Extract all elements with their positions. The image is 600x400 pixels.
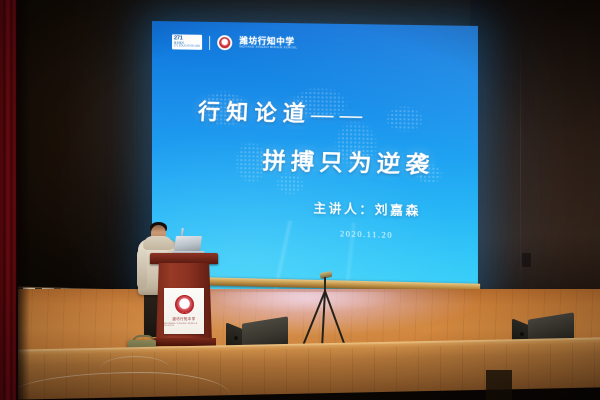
school-crest-icon xyxy=(217,35,232,50)
podium-crest-icon xyxy=(175,295,194,314)
tripod-head xyxy=(320,271,333,279)
podium-top xyxy=(150,253,218,264)
podium-sign-en: WEIFANG XINGZHI MIDDLE SCHOOL xyxy=(164,323,204,327)
slide-title-line-1: 行知论道—— xyxy=(197,94,369,130)
wall-vent xyxy=(522,253,531,267)
slide-date: 2020.11.20 xyxy=(340,228,393,240)
monitor-connector-icon xyxy=(234,336,238,340)
laptop-screen xyxy=(174,236,202,252)
header-divider xyxy=(209,35,210,49)
camera-tripod xyxy=(302,272,348,350)
logo-271-subtitle-en: 271 EDUCATION GROUP xyxy=(174,45,200,48)
monitor-connector-icon xyxy=(520,332,524,336)
apron-recess xyxy=(486,370,512,400)
curtain-shadow xyxy=(16,0,30,400)
wall-seam xyxy=(520,40,521,300)
slide-title-line-2: 拼搏只为逆袭 xyxy=(262,142,436,180)
slide-speaker-line: 主讲人：刘嘉森 xyxy=(313,197,421,219)
logo-271: 271 教育集团 271 EDUCATION GROUP xyxy=(172,34,202,50)
stage-scene: 271 教育集团 271 EDUCATION GROUP 潍坊行知中学 WEIF… xyxy=(0,0,600,400)
school-name-en: WEIFANG XINGZHI MIDDLE SCHOOL xyxy=(239,47,297,51)
stage-back-wall-right-panel xyxy=(470,0,600,302)
presenter-hood xyxy=(143,236,173,250)
podium-sign-cn: 潍坊行知中学 xyxy=(172,316,195,321)
slide-header: 271 教育集团 271 EDUCATION GROUP 潍坊行知中学 WEIF… xyxy=(172,34,297,51)
presenter-left-arm xyxy=(137,249,147,289)
podium-sign: 潍坊行知中学 WEIFANG XINGZHI MIDDLE SCHOOL xyxy=(164,288,204,334)
school-name-block: 潍坊行知中学 WEIFANG XINGZHI MIDDLE SCHOOL xyxy=(239,37,297,51)
school-name-cn: 潍坊行知中学 xyxy=(239,37,297,47)
tripod-leg xyxy=(324,291,346,348)
